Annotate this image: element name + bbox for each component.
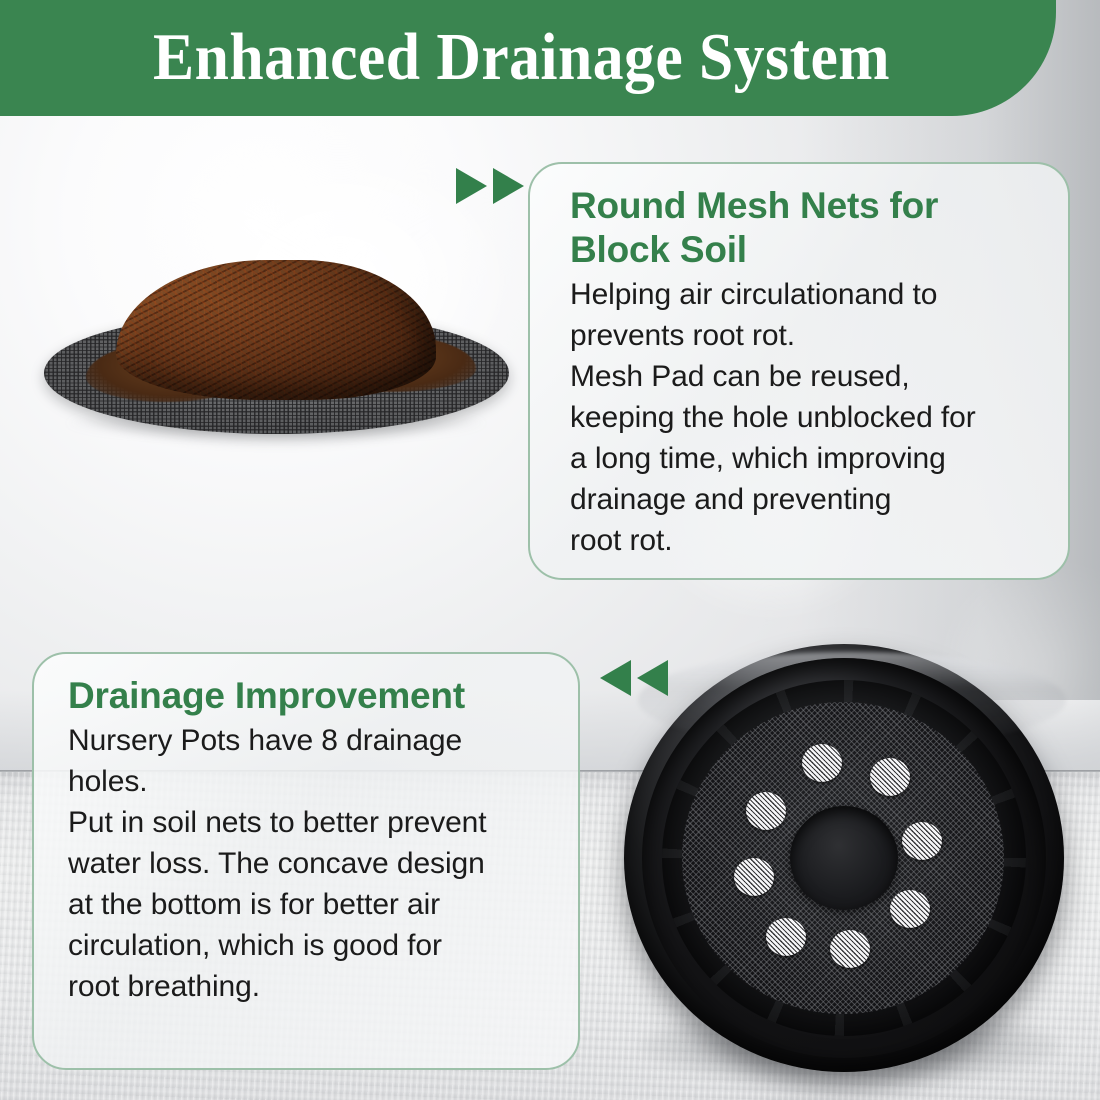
card-body: Nursery Pots have 8 drainage holes. Put … [68, 720, 552, 1007]
drainage-hole [734, 858, 774, 896]
card-body: Helping air circulationand to prevents r… [570, 274, 1042, 561]
photo-mesh-pad-with-soil [26, 248, 526, 478]
soil-pile [116, 260, 436, 400]
drainage-hole [830, 930, 870, 968]
page-title: Enhanced Drainage System [42, 7, 1014, 107]
header-banner: Enhanced Drainage System [0, 0, 1056, 116]
drainage-hole [766, 918, 806, 956]
photo-nursery-pot-bottom [616, 640, 1086, 1092]
arrow-left-icon [637, 660, 668, 696]
arrow-left-group [600, 660, 668, 696]
drainage-hole [746, 792, 786, 830]
drainage-hole [802, 744, 842, 782]
arrow-right-icon [493, 168, 524, 204]
card-title: Drainage Improvement [68, 674, 552, 718]
card-title: Round Mesh Nets for Block Soil [570, 184, 1042, 272]
arrow-right-group [456, 168, 524, 204]
drainage-hole [870, 758, 910, 796]
arrow-left-icon [600, 660, 631, 696]
drainage-hole [902, 822, 942, 860]
drainage-hole [890, 890, 930, 928]
pot-interior [662, 680, 1026, 1036]
card-drainage-improvement[interactable]: Drainage Improvement Nursery Pots have 8… [32, 652, 580, 1070]
card-round-mesh-nets[interactable]: Round Mesh Nets for Block Soil Helping a… [528, 162, 1070, 580]
pot-concave-center [790, 806, 898, 910]
arrow-right-icon [456, 168, 487, 204]
infographic-page: Enhanced Drainage System Round Mesh Nets… [0, 0, 1100, 1100]
